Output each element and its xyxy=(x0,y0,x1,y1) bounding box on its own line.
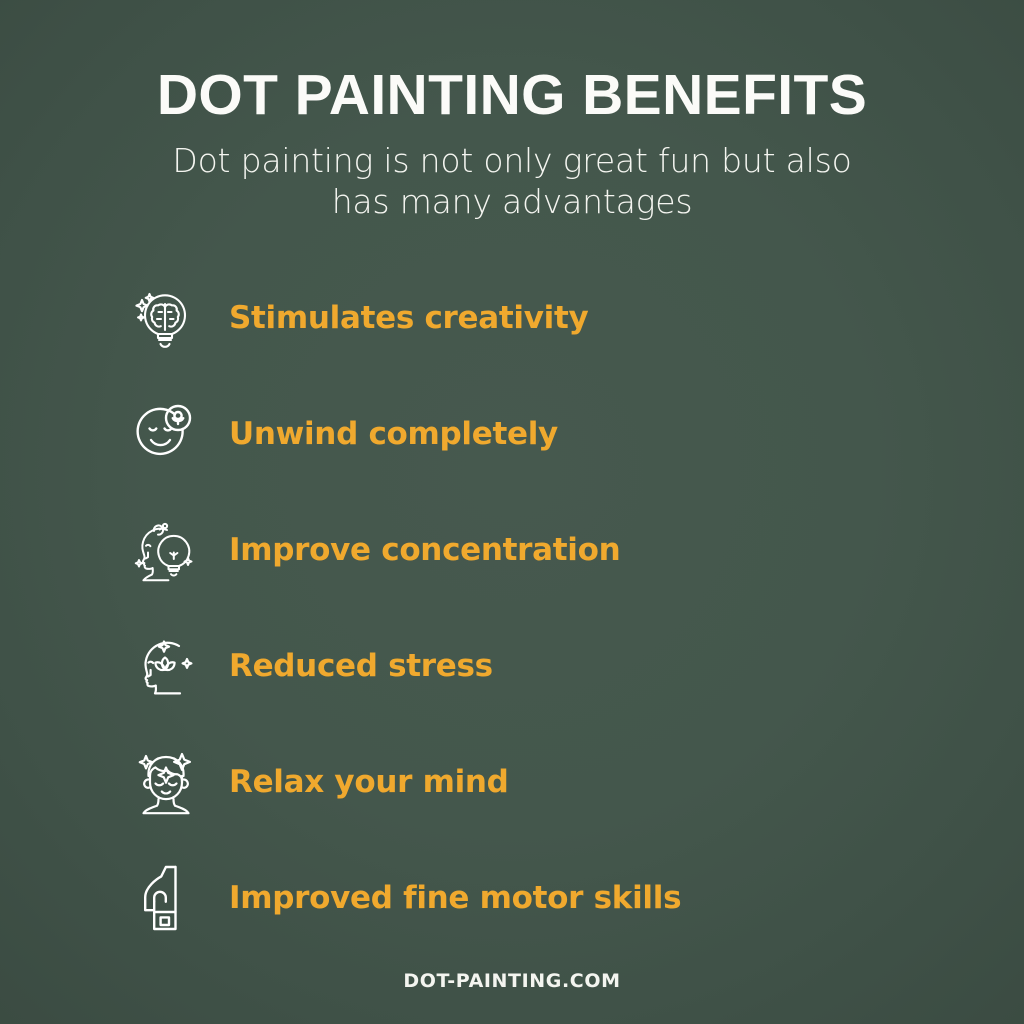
page-subtitle: Dot painting is not only great fun but a… xyxy=(142,140,882,223)
poster-footer: DOT-PAINTING.COM xyxy=(0,970,1024,992)
list-item: Improved fine motor skills xyxy=(128,852,928,944)
relaxed-face-stars-icon xyxy=(128,736,204,828)
benefit-label: Relax your mind xyxy=(229,764,509,800)
smiley-flower-icon xyxy=(128,388,204,480)
page-title: DOT PAINTING BENEFITS xyxy=(0,66,1024,126)
list-item: Unwind completely xyxy=(128,388,928,480)
list-item: Improve concentration xyxy=(128,504,928,596)
list-item: Stimulates creativity xyxy=(128,272,928,364)
poster-header: DOT PAINTING BENEFITS Dot painting is no… xyxy=(0,66,1024,223)
benefit-label: Improved fine motor skills xyxy=(229,880,681,916)
list-item: Relax your mind xyxy=(128,736,928,828)
list-item: Reduced stress xyxy=(128,620,928,712)
benefit-label: Reduced stress xyxy=(229,648,493,684)
site-url: DOT-PAINTING.COM xyxy=(403,970,620,992)
infographic-poster: DOT PAINTING BENEFITS Dot painting is no… xyxy=(0,0,1024,1024)
benefits-list: Stimulates creativity Unwind completely xyxy=(128,272,928,968)
benefit-label: Unwind completely xyxy=(229,416,558,452)
benefit-label: Improve concentration xyxy=(229,532,620,568)
brain-lightbulb-icon xyxy=(128,272,204,364)
benefit-label: Stimulates creativity xyxy=(229,300,588,336)
head-lotus-icon xyxy=(128,620,204,712)
head-lightbulb-icon xyxy=(128,504,204,596)
hand-dotting-tool-icon xyxy=(128,852,204,944)
